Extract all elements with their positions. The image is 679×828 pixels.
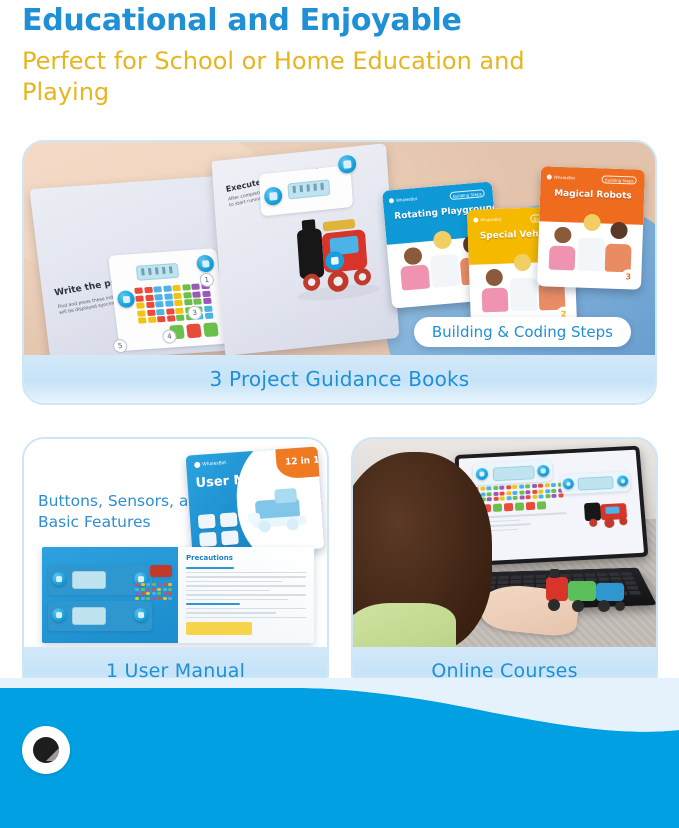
headings-block: Educational and Enjoyable Perfect for Sc…: [22, 0, 642, 108]
book-brand-3: WhalesBot: [547, 174, 576, 180]
cover-robot-illustration: [244, 481, 317, 538]
manual-open-spread: Precautions: [42, 547, 314, 643]
indicator-button-left: [117, 290, 136, 308]
step-marker: 1: [199, 272, 215, 287]
screen-keypad: [473, 483, 563, 502]
foreground-train-illustration: [542, 563, 638, 619]
warning-box: [186, 622, 252, 635]
book-number-3: 3: [621, 269, 635, 283]
indicator-button: [338, 154, 357, 174]
lcd-display: [287, 179, 330, 199]
screen-module-b: [560, 471, 631, 494]
manual-cover: WhalesBot User Manual 12 in 1: [186, 447, 325, 558]
precautions-title: Precautions: [186, 554, 233, 562]
keypad-grid: [134, 283, 213, 324]
toy-train-illustration: [279, 206, 389, 309]
card-online-courses[interactable]: Online Courses: [351, 437, 658, 697]
left-page-panel: 5 4 3 1: [108, 248, 228, 351]
manual-page-left: [42, 547, 178, 643]
step-marker: 5: [112, 339, 128, 354]
book-kids-art-3: [546, 207, 635, 272]
card-project-books[interactable]: Write the program: Find and press these …: [22, 140, 657, 405]
promo-page: Educational and Enjoyable Perfect for Sc…: [0, 0, 679, 828]
cover-bricks-icons: [198, 512, 242, 549]
page-module-b: [48, 601, 152, 631]
book-badge-3: Building Steps: [602, 175, 637, 184]
caption-project-books: 3 Project Guidance Books: [24, 355, 655, 403]
page-title: Educational and Enjoyable: [22, 0, 642, 40]
card-user-manual[interactable]: Buttons, Sensors, and Basic Features Wha…: [22, 437, 329, 697]
cover-brand: WhalesBot: [194, 460, 226, 468]
child-shirt-green: [353, 603, 456, 649]
guidance-book-3: WhalesBot Building Steps Magical Robots: [537, 166, 645, 290]
screen-text-lines: [468, 509, 634, 536]
precautions-text-lines: [186, 567, 306, 621]
page-keypad: [135, 583, 172, 600]
screen-module-a: [473, 460, 553, 485]
guidance-book-left-page: Write the program: Find and press these …: [29, 176, 238, 357]
guidance-books-group: WhalesBot Building Steps Rotating Playgr…: [387, 156, 637, 336]
indicator-button-right: [196, 254, 215, 272]
bottom-wave-band: [0, 678, 679, 828]
guidance-book-right-page: Execute the program After completing the…: [212, 143, 400, 356]
lcd-display: [136, 263, 180, 281]
whale-eye-pupil: [33, 737, 59, 763]
run-button: [264, 186, 283, 206]
book-reading-scene: Write the program: Find and press these …: [24, 142, 655, 357]
project-books-photo: Write the program: Find and press these …: [24, 142, 655, 357]
whale-eye-glint: [46, 748, 59, 761]
user-manual-photo: Buttons, Sensors, and Basic Features Wha…: [24, 439, 327, 649]
online-courses-photo: [353, 439, 656, 649]
building-coding-steps-pill: Building & Coding Steps: [414, 317, 631, 347]
book-brand-2: WhalesBot: [473, 217, 502, 223]
right-page-panel: [259, 165, 353, 217]
manual-scene: Buttons, Sensors, and Basic Features Wha…: [24, 439, 327, 649]
manual-page-right: Precautions: [178, 547, 314, 643]
page-subtitle: Perfect for School or Home Education and…: [22, 40, 612, 108]
laptop-scene: [353, 439, 656, 649]
whale-eye-logo: [22, 726, 70, 774]
screen-action-row: [482, 501, 546, 512]
